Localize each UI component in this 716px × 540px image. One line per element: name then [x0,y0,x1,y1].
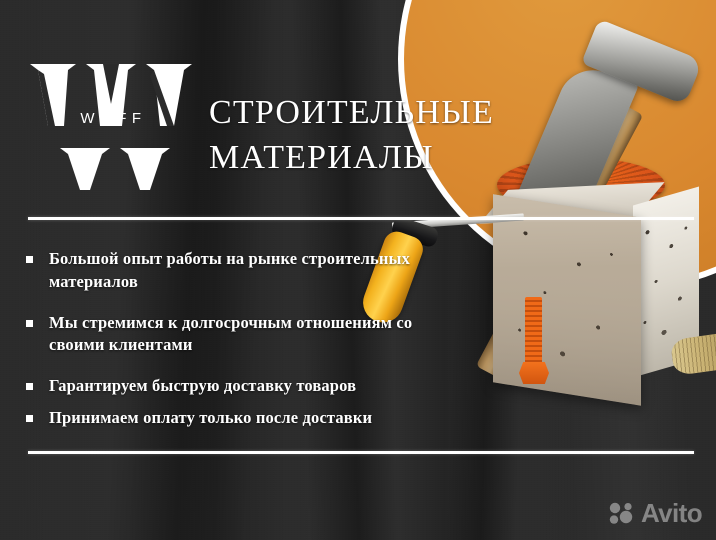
divider-top [28,217,694,220]
square-bullet-icon [26,256,33,263]
benefits-list: Большой опыт работы на рынке строительны… [26,248,466,430]
square-bullet-icon [26,383,33,390]
square-bullet-icon [26,415,33,422]
page-title-line-1: СТРОИТЕЛЬНЫЕ [209,94,494,131]
divider-bottom [28,451,694,454]
list-item-label: Большой опыт работы на рынке строительны… [49,248,466,294]
brand-logo: WOFF [24,56,198,192]
list-item-label: Принимаем оплату только после доставки [49,407,372,430]
page-title-line-2: МАТЕРИАЛЫ [209,135,539,180]
page-title: СТРОИТЕЛЬНЫЕ МАТЕРИАЛЫ [209,90,539,180]
square-bullet-icon [26,320,33,327]
list-item-label: Мы стремимся к долгосрочным отношениям с… [49,312,466,358]
list-item: Большой опыт работы на рынке строительны… [26,248,466,294]
advert-banner: WOFF СТРОИТЕЛЬНЫЕ МАТЕРИАЛЫ Большой опыт… [0,0,716,540]
list-item: Принимаем оплату только после доставки [26,407,466,430]
avito-watermark: Avito [609,500,702,526]
list-item-label: Гарантируем быструю доставку товаров [49,375,356,398]
list-item: Мы стремимся к долгосрочным отношениям с… [26,312,466,358]
avito-label: Avito [641,500,702,526]
brand-wordmark: WOFF [24,110,198,127]
avito-dots-logo-icon [609,502,635,524]
list-item: Гарантируем быструю доставку товаров [26,375,466,398]
